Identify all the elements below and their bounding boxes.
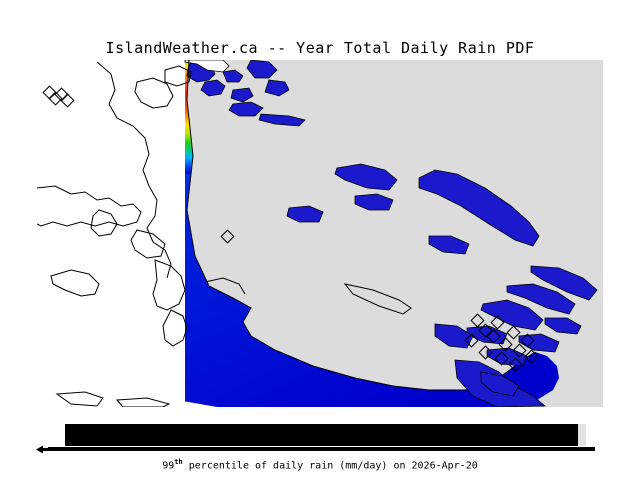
map-graphics [37, 60, 603, 407]
water-upper-strait [335, 164, 397, 190]
water-inlet-east [429, 236, 469, 254]
page-title: IslandWeather.ca -- Year Total Daily Rai… [0, 39, 640, 57]
station-marker [43, 86, 56, 99]
colorbar-caption: 99th percentile of daily rain (mm/day) o… [0, 458, 640, 471]
northern-waterways [187, 60, 305, 126]
lake-outline [345, 284, 411, 314]
caption-percentile-suffix: th [174, 458, 182, 466]
caption-rest: percentile of daily rain (mm/day) on 202… [183, 460, 478, 471]
strait-of-georgia-waters [287, 164, 539, 254]
station-marker [471, 314, 484, 327]
station-marker-group [43, 86, 538, 371]
colorbar-overflow-swatch [578, 424, 586, 446]
water-inlet-mid [287, 206, 323, 222]
caption-percentile-number: 99 [162, 460, 174, 471]
water-strait-pocket [355, 194, 393, 210]
water-body-nw-3 [223, 70, 243, 82]
water-body-nw-2 [201, 80, 225, 96]
water-body-n-inlet-1 [247, 60, 277, 78]
water-body-n-inlet-4 [259, 114, 305, 126]
map-plot-area[interactable] [37, 60, 603, 407]
station-marker [507, 326, 520, 339]
water-body-n-inlet-2 [265, 80, 289, 96]
station-marker [221, 230, 234, 243]
water-body-n-inlet-3 [229, 102, 263, 116]
mainland-coastline [37, 62, 191, 346]
offshore-feature-outline [51, 270, 99, 296]
weather-map-page: IslandWeather.ca -- Year Total Daily Rai… [0, 0, 640, 480]
colorbar-gradient [65, 424, 578, 446]
colorbar-underflow-arrow-icon [36, 445, 52, 454]
station-marker [61, 94, 74, 107]
water-johnstone-strait [419, 170, 539, 246]
water-body-nw-4 [231, 88, 253, 102]
colorbar-axis-line [48, 447, 595, 451]
